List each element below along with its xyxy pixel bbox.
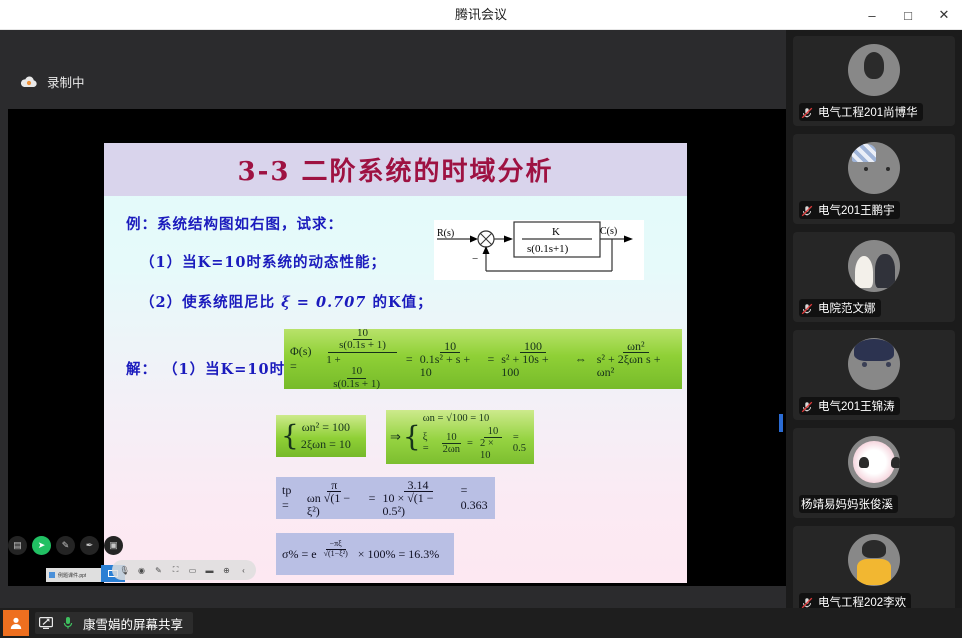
eq-1: =	[406, 352, 413, 367]
mic-muted-icon	[801, 302, 813, 314]
formula-omega-system: { ωn² = 100 2ξωn = 10	[276, 415, 366, 457]
camera-icon[interactable]: ◉	[137, 566, 146, 575]
equiv-symbol: ⇔	[575, 352, 587, 367]
slide-grid-button[interactable]: ▣	[104, 536, 123, 555]
video-icon[interactable]: ▭	[188, 566, 197, 575]
collapse-icon[interactable]: ‹	[239, 566, 248, 575]
window-controls: – □ ✕	[854, 0, 962, 30]
zeta-lhs: ξ =	[423, 432, 436, 454]
f3-den: s² + 10s + 100	[497, 353, 569, 378]
participant-tile[interactable]: 电气201王锦涛	[793, 330, 955, 420]
q2-symbol: ξ = 0.707	[281, 294, 366, 311]
powerpoint-slide[interactable]: 3-3 二阶系统的时域分析 例：系统结构图如右图，试求： （1）当K=10时系统…	[104, 143, 687, 583]
participant-name: 电气201王锦涛	[818, 398, 895, 414]
close-button[interactable]: ✕	[926, 0, 962, 30]
participant-name-bar: 电院范文娜	[799, 299, 881, 317]
zeta-f1-num: 10	[442, 432, 461, 444]
block-diagram-sign: −	[472, 253, 478, 265]
f1-den-num: 10	[347, 366, 366, 379]
chat-icon[interactable]: ▬	[205, 566, 214, 575]
avatar	[848, 338, 900, 390]
zeta-f2-num: 10	[484, 426, 503, 438]
zeta-eq: =	[467, 438, 473, 449]
avatar	[848, 436, 900, 488]
participant-name-bar: 杨靖易妈妈张俊溪	[799, 495, 898, 513]
mic-muted-icon	[801, 400, 813, 412]
pen-button[interactable]: ✎	[56, 536, 75, 555]
participant-name-bar: 电气201王锦涛	[799, 397, 900, 415]
block-diagram-output-label: C(s)	[600, 226, 617, 237]
slide-text-question-2: （2）使系统阻尼比 ξ = 0.707 的K值；	[140, 291, 433, 312]
slide-text-solution: 解： （1）当K=10时：	[126, 358, 301, 379]
f2-num: 10	[440, 340, 460, 354]
maximize-button[interactable]: □	[890, 0, 926, 30]
ppt-file-label: 例题课件.ppt	[58, 572, 86, 579]
f2-den: 0.1s² + s + 10	[416, 353, 485, 378]
annotate-pen-icon[interactable]: ✎	[154, 566, 163, 575]
f1-num-bot: s(0.1s + 1)	[335, 340, 390, 352]
zeta-line-2: ξ = 10 2ωn = 10 2 × 10 = 0.5	[423, 426, 534, 460]
pointer-button[interactable]: ➤	[32, 536, 51, 555]
participant-tile[interactable]: 电气工程201尚博华	[793, 36, 955, 126]
participant-tile[interactable]: 杨靖易妈妈张俊溪	[793, 428, 955, 518]
slide-menu-button[interactable]: ▤	[8, 536, 27, 555]
participant-sidebar[interactable]: 电气工程201尚博华电气201王鹏宇电院范文娜电气201王锦涛杨靖易妈妈张俊溪电…	[786, 30, 962, 608]
tp-result: = 0.363	[461, 483, 495, 513]
file-icon	[49, 572, 55, 578]
window-title-bar: 腾讯会议 – □ ✕	[0, 0, 962, 30]
screen-share-status[interactable]: 康雪娟的屏幕共享	[35, 612, 193, 634]
tp-f2-den: 10 × √(1 − 0.5²)	[378, 492, 457, 517]
sigma-lhs: σ% = e	[282, 547, 317, 562]
slide-title: 3-3 二阶系统的时域分析	[237, 151, 553, 188]
formula-zeta-solution: ⇒ { ωn = √100 = 10 ξ = 10 2ωn = 10 2 × 1…	[386, 410, 534, 464]
participant-name: 电气工程201尚博华	[818, 104, 918, 120]
f3-num: 100	[520, 340, 546, 354]
tp-eq: =	[369, 491, 376, 506]
q2-suffix: 的K值；	[372, 294, 432, 311]
window-title: 腾讯会议	[0, 0, 962, 30]
cloud-recording-icon	[20, 76, 38, 88]
zeta-f2-den: 2 × 10	[476, 438, 510, 460]
shared-screen-region[interactable]: 录制中 3-3 二阶系统的时域分析 例：系统结构图如右图，试求： （1）当K=1…	[0, 30, 786, 608]
more-icon[interactable]: ⊕	[222, 566, 231, 575]
screen-share-control-toolbar[interactable]: 🎙◉✎⛶▭▬⊕‹	[112, 560, 256, 580]
sigma-exp-den: √(1−ξ²)	[320, 550, 352, 558]
wn-line-1: ωn² = 100	[302, 420, 350, 435]
slide-title-band: 3-3 二阶系统的时域分析	[104, 143, 687, 196]
phi-lhs: Φ(s) =	[290, 344, 319, 374]
tp-f2-num: 3.14	[404, 479, 433, 493]
highlighter-button[interactable]: ✒	[80, 536, 99, 555]
avatar	[848, 142, 900, 194]
meeting-body: 录制中 3-3 二阶系统的时域分析 例：系统结构图如右图，试求： （1）当K=1…	[0, 30, 962, 608]
wn-line-2: 2ξωn = 10	[301, 437, 351, 452]
participant-name: 电气201王鹏宇	[818, 202, 895, 218]
left-brace-1: {	[281, 425, 299, 447]
block-diagram-denominator: s(0.1s+1)	[527, 243, 569, 255]
sigma-rhs: × 100% = 16.3%	[358, 547, 440, 562]
block-diagram-input-label: R(s)	[437, 228, 454, 239]
participant-name-bar: 电气工程201尚博华	[799, 103, 923, 121]
mic-muted-icon	[801, 596, 813, 608]
zeta-result: = 0.5	[513, 432, 534, 454]
share-select-icon[interactable]: ⛶	[171, 566, 180, 575]
control-block-diagram: R(s) K s(0.1s+1) C(s)	[434, 220, 644, 280]
block-diagram-numerator: K	[552, 226, 560, 238]
screen-share-icon[interactable]	[39, 616, 53, 630]
formula-overshoot: σ% = e −πξ √(1−ξ²) × 100% = 16.3%	[276, 533, 454, 575]
tp-f1-num: π	[327, 479, 341, 493]
eq-2: =	[487, 352, 494, 367]
avatar	[848, 534, 900, 586]
participant-name: 杨靖易妈妈张俊溪	[801, 496, 893, 512]
implies-arrow: ⇒	[390, 429, 401, 445]
participant-tile[interactable]: 电院范文娜	[793, 232, 955, 322]
slide-text-question-1: （1）当K=10时系统的动态性能；	[140, 251, 386, 272]
taskbar: 康雪娟的屏幕共享	[0, 608, 962, 638]
minimize-button[interactable]: –	[854, 0, 890, 30]
formula-transfer-function: Φ(s) = 10 s(0.1s + 1) 1 + 10	[284, 329, 682, 389]
formula-peak-time: tp = π ωn √(1 − ξ²) = 3.14 10 × √(1 − 0.…	[276, 477, 495, 519]
mic-on-icon[interactable]	[61, 616, 75, 630]
participant-name: 电院范文娜	[818, 300, 876, 316]
tp-lhs: tp =	[282, 483, 300, 513]
left-brace-2: {	[403, 426, 421, 448]
mic-icon[interactable]: 🎙	[120, 566, 129, 575]
participant-tile[interactable]: 电气201王鹏宇	[793, 134, 955, 224]
f4-num: ωn²	[623, 340, 649, 354]
zeta-line-1: ωn = √100 = 10	[423, 413, 534, 424]
f4-den: s² + 2ξωn s + ωn²	[593, 353, 679, 378]
mic-muted-icon	[801, 106, 813, 118]
participants-icon[interactable]	[3, 610, 29, 636]
avatar	[848, 44, 900, 96]
recording-indicator: 录制中	[20, 72, 85, 91]
tp-f1-den: ωn √(1 − ξ²)	[303, 492, 366, 517]
recording-label: 录制中	[47, 72, 85, 91]
f1-den-one: 1 +	[326, 354, 340, 366]
zeta-f1-den: 2ωn	[439, 444, 464, 455]
participant-tile[interactable]: 电气工程202李欢	[793, 526, 955, 616]
f1-den-bot: s(0.1s + 1)	[329, 379, 384, 391]
powerpoint-presenter-toolbar[interactable]: ▤➤✎✒▣	[8, 536, 123, 555]
participant-name-bar: 电气201王鹏宇	[799, 201, 900, 219]
slide-text-example: 例：系统结构图如右图，试求：	[126, 213, 343, 234]
q2-prefix: （2）使系统阻尼比	[140, 294, 275, 311]
avatar	[848, 240, 900, 292]
mic-muted-icon	[801, 204, 813, 216]
slide-scroll-marker[interactable]	[779, 414, 783, 432]
share-owner-label: 康雪娟的屏幕共享	[83, 614, 183, 633]
